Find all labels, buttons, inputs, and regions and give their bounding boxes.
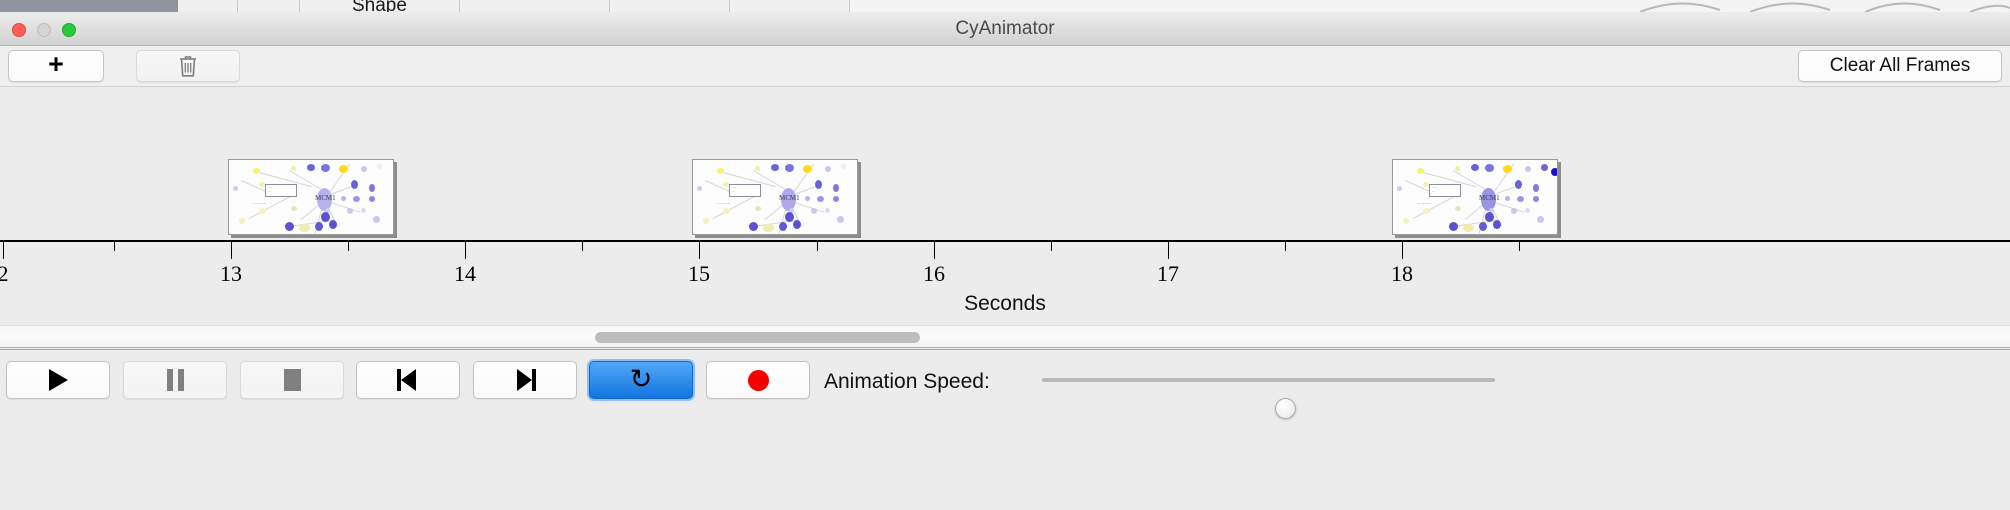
axis-tick-major: [465, 242, 466, 259]
axis-tick-label: 17: [1157, 261, 1179, 287]
axis-tick-minor: [817, 242, 818, 251]
axis-tick-major: [1168, 242, 1169, 259]
axis-tick-major: [1402, 242, 1403, 259]
timeline-axis: 2131415161718 Seconds: [0, 87, 2010, 325]
play-button[interactable]: [6, 361, 110, 399]
axis-tick-minor: [1285, 242, 1286, 251]
record-icon: [748, 370, 769, 391]
background-cell: [300, 0, 360, 12]
animation-speed-label: Animation Speed:: [824, 370, 990, 394]
title-bar: CyAnimator: [0, 12, 2010, 46]
axis-baseline: [0, 240, 2010, 242]
axis-tick-major: [3, 242, 4, 259]
background-window-label: Shape: [352, 0, 407, 12]
axis-tick-minor: [114, 242, 115, 251]
stop-icon: [284, 369, 301, 391]
window-title: CyAnimator: [0, 12, 2010, 46]
axis-title: Seconds: [0, 292, 2010, 316]
skip-start-button[interactable]: [356, 361, 460, 399]
background-curve-decoration: [1640, 0, 2010, 12]
trash-icon: [178, 55, 198, 78]
loop-icon: ↻: [630, 366, 653, 393]
background-cell: [460, 0, 610, 12]
cyanimator-window: Shape CyAnimator + Clear All Frames: [0, 0, 2010, 510]
delete-frame-button[interactable]: [136, 50, 240, 82]
stop-button[interactable]: [240, 361, 344, 399]
animation-speed-thumb[interactable]: [1275, 398, 1296, 419]
skip-end-button[interactable]: [473, 361, 577, 399]
skip-forward-icon: [512, 369, 538, 391]
add-frame-button[interactable]: +: [8, 50, 104, 82]
clear-all-frames-button[interactable]: Clear All Frames: [1798, 50, 2002, 82]
axis-tick-label: 2: [0, 261, 9, 287]
axis-tick-major: [699, 242, 700, 259]
axis-tick-label: 14: [454, 261, 476, 287]
axis-tick-major: [231, 242, 232, 259]
axis-tick-major: [934, 242, 935, 259]
axis-tick-minor: [582, 242, 583, 251]
pause-icon: [167, 369, 184, 391]
axis-tick-label: 15: [688, 261, 710, 287]
background-cell: [730, 0, 850, 12]
background-window-strip: Shape: [0, 0, 2010, 12]
background-cell: [610, 0, 730, 12]
loop-button[interactable]: ↻: [589, 361, 693, 399]
timeline-panel[interactable]: -------- MCM1 -- -- --- ------: [0, 87, 2010, 325]
record-button[interactable]: [706, 361, 810, 399]
axis-tick-minor: [348, 242, 349, 251]
axis-tick-minor: [1051, 242, 1052, 251]
pause-button[interactable]: [123, 361, 227, 399]
animation-speed-slider[interactable]: [1042, 378, 1495, 382]
skip-back-icon: [395, 369, 421, 391]
axis-tick-label: 18: [1391, 261, 1413, 287]
play-icon: [49, 369, 68, 391]
background-cell: [238, 0, 300, 12]
transport-bar: ↻ Animation Speed:: [0, 349, 2010, 510]
axis-tick-label: 16: [923, 261, 945, 287]
axis-tick-minor: [1519, 242, 1520, 251]
background-cell: [178, 0, 238, 12]
timeline-scrollbar[interactable]: [0, 325, 2010, 348]
axis-tick-label: 13: [220, 261, 242, 287]
plus-icon: +: [48, 51, 64, 78]
scrollbar-thumb[interactable]: [595, 332, 920, 343]
toolbar: + Clear All Frames: [0, 46, 2010, 87]
background-sidebar: [0, 0, 178, 12]
